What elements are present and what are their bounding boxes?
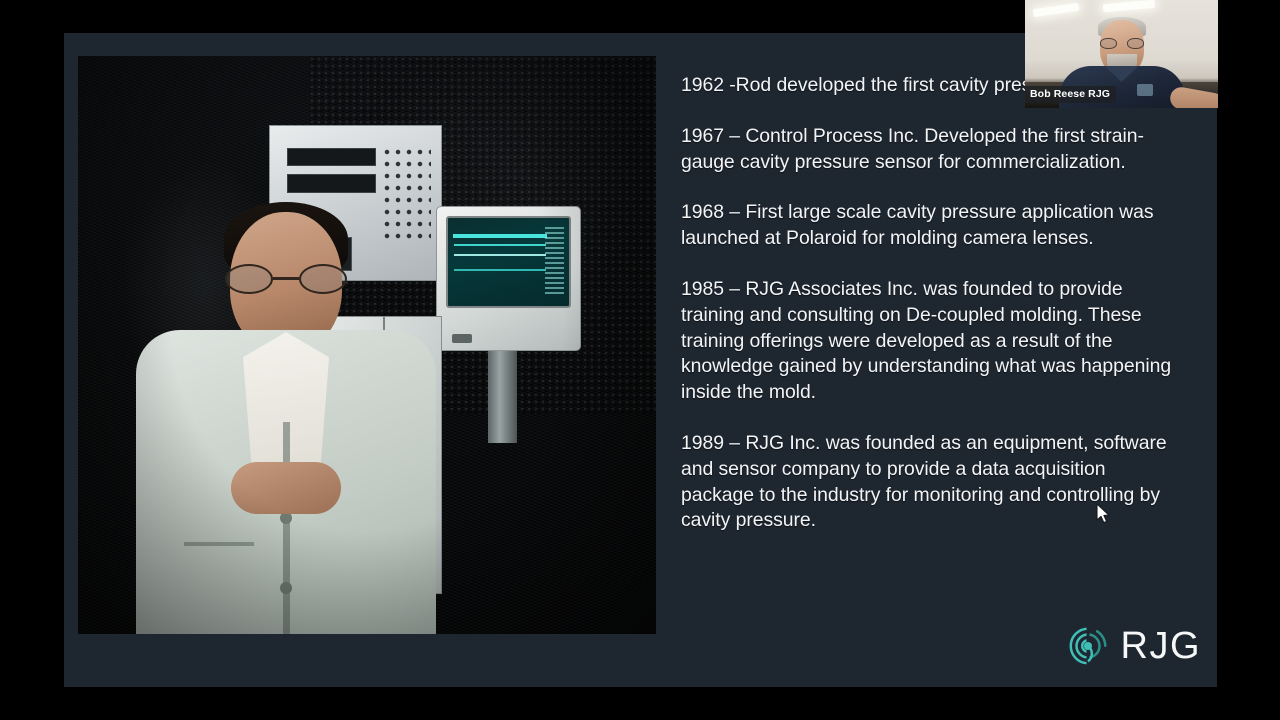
rjg-logo: RJG [1065, 623, 1202, 669]
coat-placket [283, 422, 290, 634]
webcam-participant-tile[interactable]: Bob Reese RJG [1025, 0, 1218, 108]
cabinet-display-1 [287, 148, 376, 166]
historic-rjg-photo [78, 56, 656, 634]
crt-power-button [452, 334, 472, 343]
mouse-cursor [1096, 503, 1112, 525]
crt-monitor [436, 206, 581, 351]
rjg-signal-icon [1065, 623, 1111, 669]
rjg-wordmark: RJG [1121, 627, 1202, 665]
timeline-paragraph-1967: 1967 – Control Process Inc. Developed th… [681, 124, 1181, 176]
crt-screen-waveforms [446, 216, 571, 308]
monitor-stand [488, 351, 517, 443]
video-frame: 1962 -Rod developed the first cavity pre… [0, 0, 1280, 720]
slide-text-column: 1962 -Rod developed the first cavity pre… [681, 73, 1181, 534]
eyeglasses-icon [1100, 38, 1144, 49]
cabinet-display-2 [287, 174, 376, 192]
timeline-paragraph-1985: 1985 – RJG Associates Inc. was founded t… [681, 277, 1181, 406]
coat-button [280, 582, 292, 594]
participant-name-label: Bob Reese RJG [1025, 86, 1116, 103]
polo-rjg-logo-icon [1137, 84, 1153, 96]
person-hands [231, 462, 341, 514]
presentation-slide: 1962 -Rod developed the first cavity pre… [64, 33, 1217, 687]
timeline-paragraph-1968: 1968 – First large scale cavity pressure… [681, 200, 1181, 252]
person-in-lab-coat [136, 212, 437, 634]
coat-pocket [184, 542, 254, 546]
eyeglasses-icon [225, 264, 347, 294]
